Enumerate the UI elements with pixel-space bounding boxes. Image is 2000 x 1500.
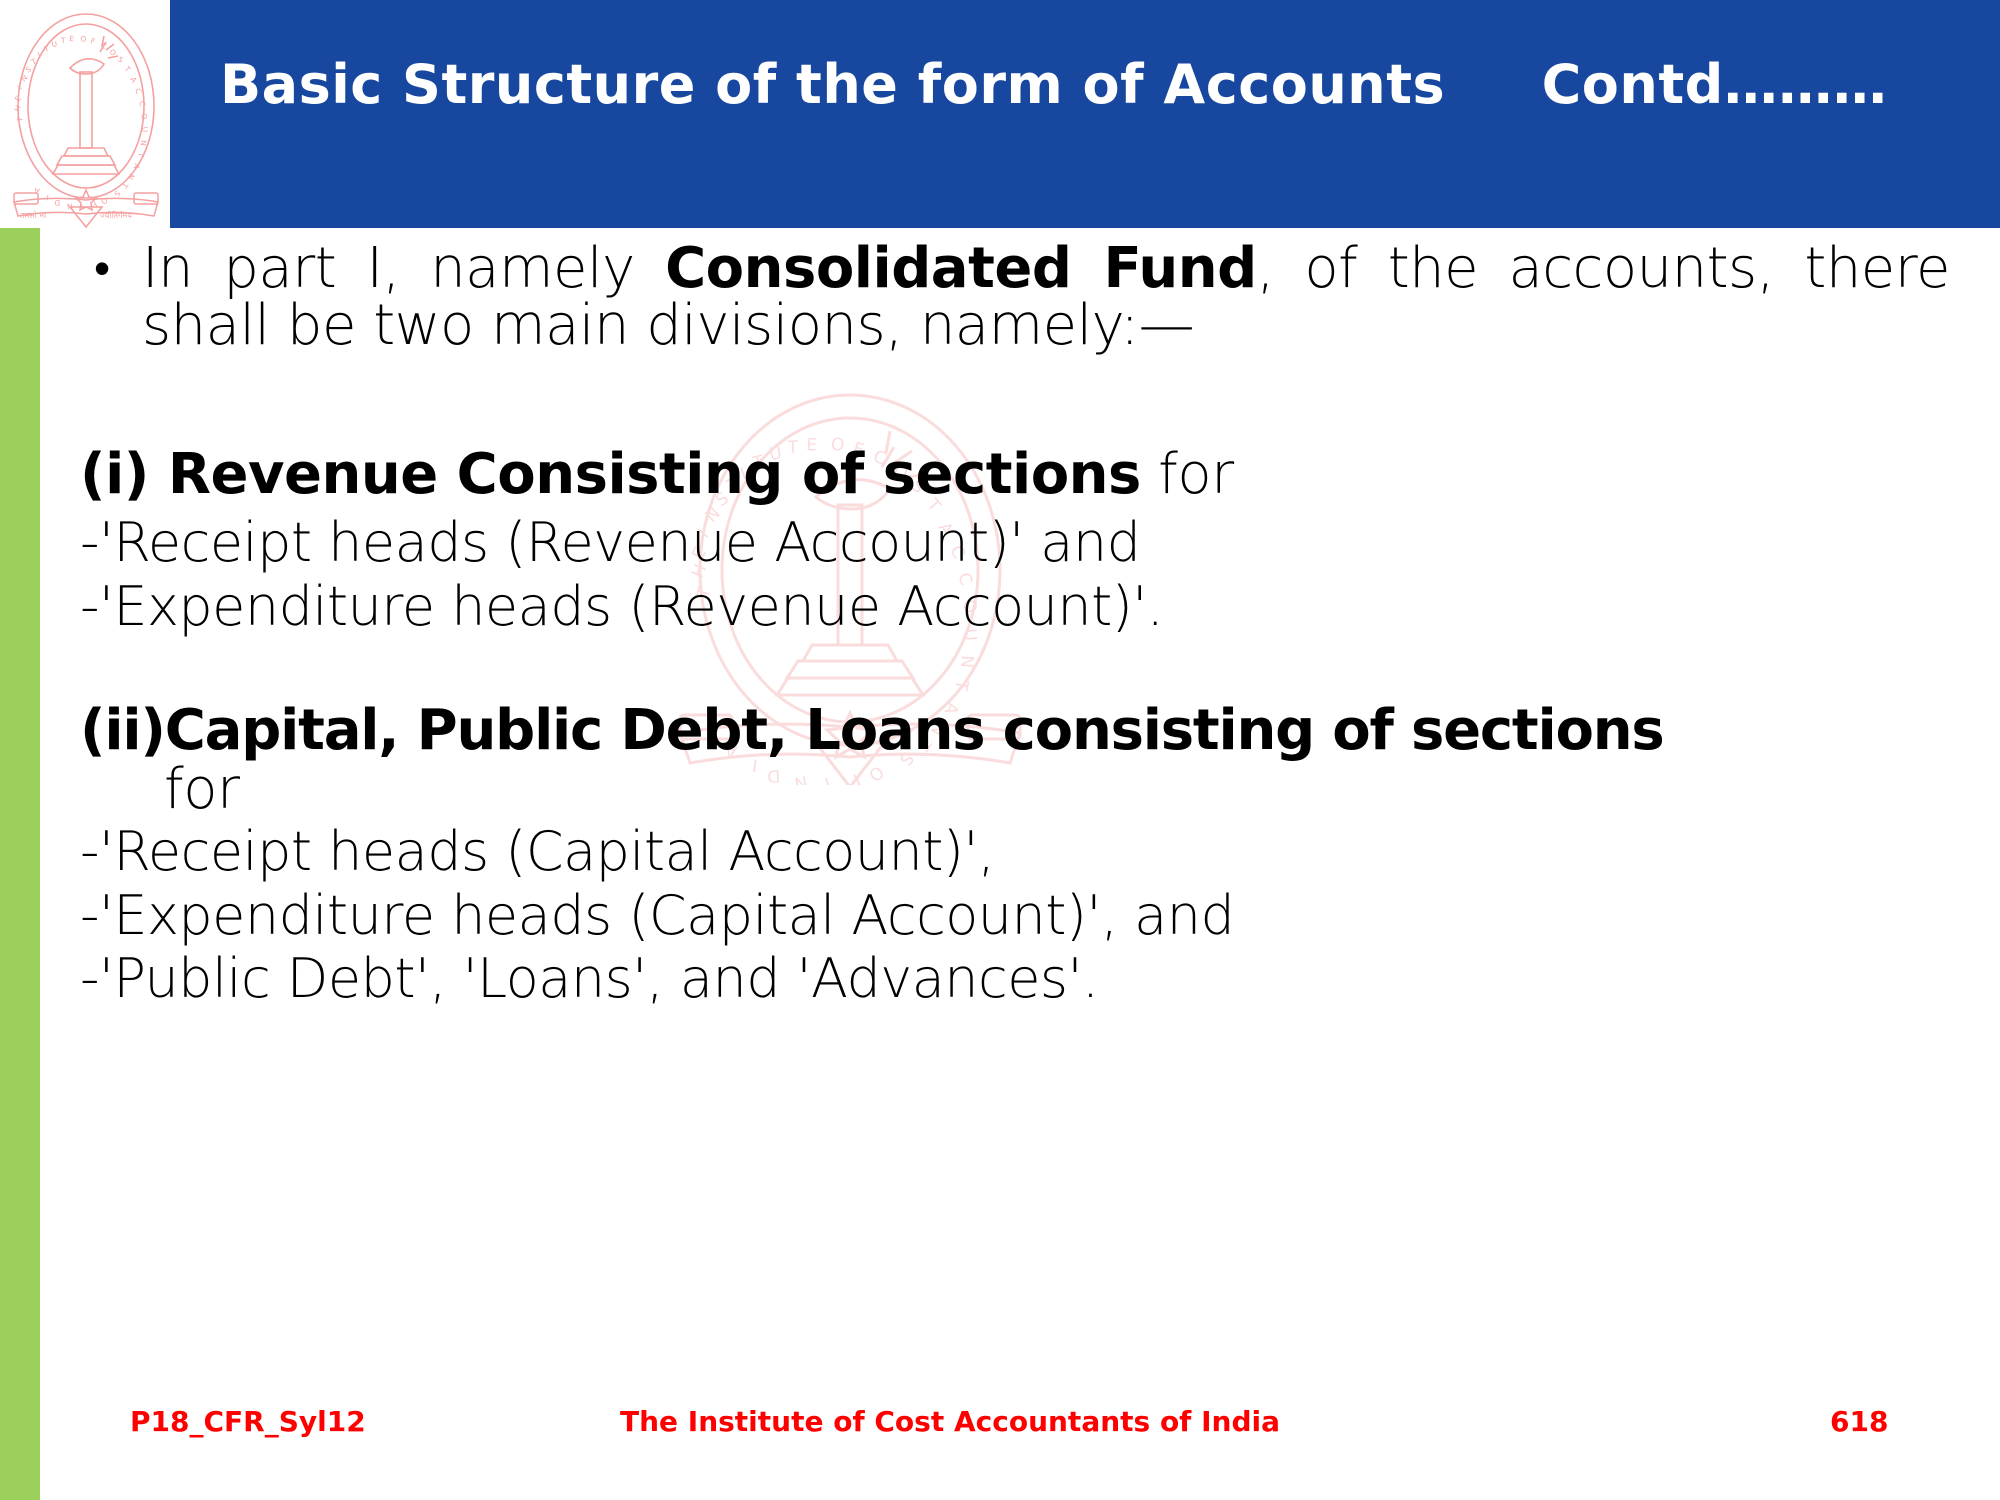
svg-text:C: C	[133, 87, 144, 96]
footer-page-number: 618	[1830, 1405, 1888, 1438]
section-ii-heading-bold: (ii)Capital, Public Debt, Loans consisti…	[80, 698, 1664, 763]
svg-text:ज्योतिर्गमय: ज्योतिर्गमय	[100, 210, 132, 220]
svg-text:T: T	[122, 64, 133, 75]
svg-text:A: A	[32, 186, 40, 196]
left-accent-bar	[0, 228, 40, 1500]
svg-text:C: C	[137, 100, 147, 108]
footer-institute-name: The Institute of Cost Accountants of Ind…	[620, 1405, 1280, 1438]
svg-text:I: I	[45, 193, 49, 202]
bullet-icon: •	[80, 240, 142, 298]
slide-footer: P18_CFR_Syl12 The Institute of Cost Acco…	[0, 1405, 2000, 1465]
svg-text:I: I	[36, 50, 42, 59]
svg-text:T: T	[119, 180, 130, 190]
svg-text:T: T	[15, 115, 25, 123]
section-ii-heading: (ii)Capital, Public Debt, Loans consisti…	[80, 702, 1950, 820]
footer-course-code: P18_CFR_Syl12	[130, 1405, 366, 1438]
svg-text:O: O	[139, 113, 149, 121]
section-i-heading-bold: (i) Revenue Consisting of sections	[80, 442, 1141, 507]
spacer-between-sections	[80, 638, 1950, 702]
slide-body: • In part I, namely Consolidated Fund, o…	[80, 240, 1950, 1360]
section-i-item-0: -'Receipt heads (Revenue Account)' and	[80, 511, 1950, 575]
svg-text:D: D	[54, 198, 61, 207]
intro-bullet: • In part I, namely Consolidated Fund, o…	[80, 240, 1950, 354]
section-ii-heading-plain: for	[80, 761, 1950, 820]
section-i-item-1: -'Expenditure heads (Revenue Account)'.	[80, 575, 1950, 639]
svg-text:T: T	[29, 56, 39, 67]
svg-text:O: O	[99, 195, 110, 206]
svg-text:E: E	[69, 34, 75, 43]
svg-text:U: U	[140, 126, 149, 133]
institute-logo: T H E I N S T I T U T E O F C O S T A C	[0, 2, 172, 232]
section-ii-item-2: -'Public Debt', 'Loans', and 'Advances'.	[80, 947, 1950, 1011]
section-ii-item-1: -'Expenditure heads (Capital Account)', …	[80, 884, 1950, 948]
section-i-heading-plain: for	[1141, 442, 1234, 507]
svg-text:O: O	[80, 34, 88, 44]
svg-text:A: A	[128, 75, 139, 85]
slide: Basic Structure of the form of Accounts …	[0, 0, 2000, 1500]
svg-text:T: T	[60, 36, 66, 45]
intro-bold: Consolidated Fund	[665, 236, 1257, 301]
header-band: Basic Structure of the form of Accounts …	[170, 0, 2000, 228]
section-ii-item-0: -'Receipt heads (Capital Account)',	[80, 820, 1950, 884]
intro-text: In part I, namely Consolidated Fund, of …	[142, 240, 1950, 354]
spacer-after-intro	[80, 354, 1950, 446]
svg-text:T: T	[42, 44, 50, 54]
section-i-heading: (i) Revenue Consisting of sections for	[80, 446, 1950, 505]
svg-text:F: F	[89, 36, 96, 46]
svg-text:U: U	[51, 39, 58, 49]
svg-text:N: N	[139, 140, 148, 147]
svg-text:H: H	[13, 104, 24, 113]
intro-before: In part I, namely	[142, 236, 665, 301]
svg-text:A: A	[131, 162, 141, 170]
svg-text:तमसो मा: तमसो मा	[20, 210, 47, 220]
page-title: Basic Structure of the form of Accounts …	[220, 54, 1980, 116]
